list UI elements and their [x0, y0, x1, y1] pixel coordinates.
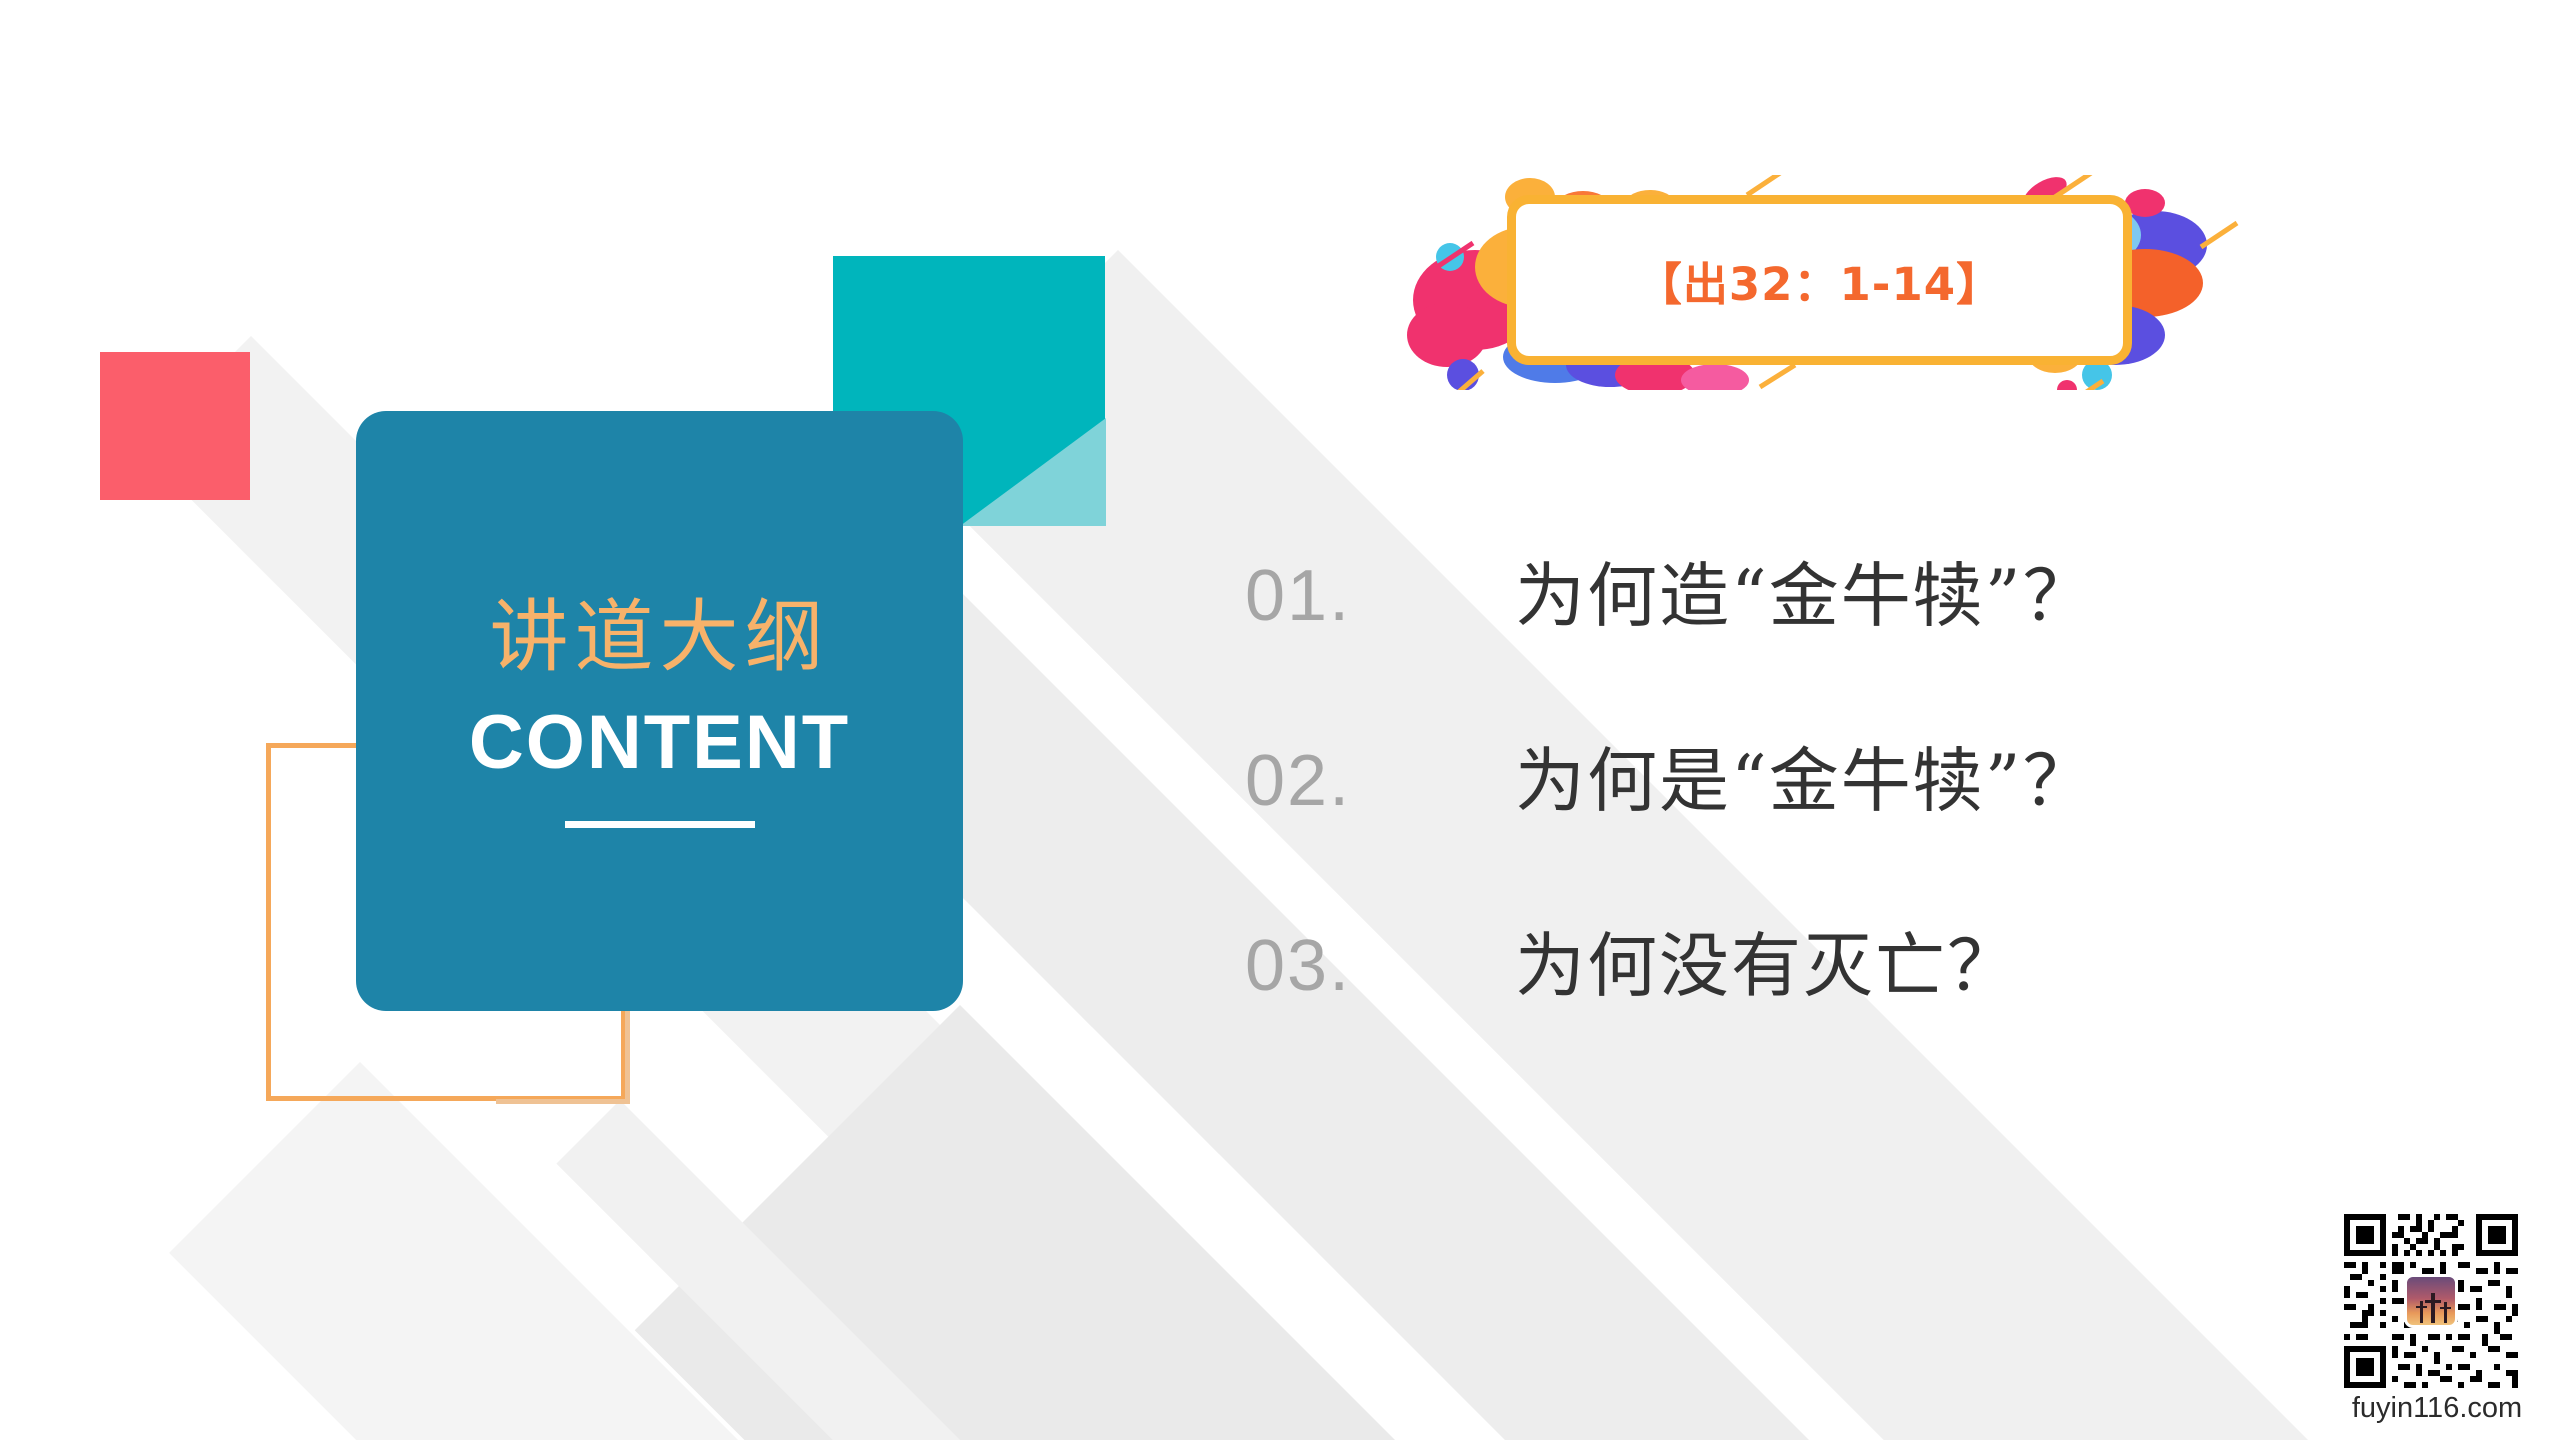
content-card: 讲道大纲 CONTENT — [356, 411, 963, 1011]
content-card-title-cn: 讲道大纲 — [490, 594, 830, 681]
agenda-label: 为何是“金牛犊”？ — [1515, 725, 2095, 826]
agenda-number: 01. — [1245, 555, 1515, 637]
scripture-reference-box: 【出32：1-14】 — [1507, 195, 2132, 365]
presentation-slide: 讲道大纲 CONTENT — [0, 0, 2560, 1440]
agenda-item-01[interactable]: 01. 为何造“金牛犊”？ — [1245, 540, 2395, 725]
decor-square-orange-outline-shadow — [496, 1000, 630, 1104]
agenda-item-03[interactable]: 03. 为何没有灭亡？ — [1245, 910, 2395, 1095]
cross-sunset-icon — [2404, 1274, 2458, 1328]
shadow-band-outline-square — [556, 1100, 1313, 1440]
shadow-band-card-upper — [169, 1062, 1385, 1440]
watermark-url: fuyin116.com — [2332, 1392, 2542, 1425]
agenda-label: 为何没有灭亡？ — [1515, 910, 2019, 1011]
agenda-label: 为何造“金牛犊”？ — [1515, 540, 2095, 641]
agenda-item-02[interactable]: 02. 为何是“金牛犊”？ — [1245, 725, 2395, 910]
scripture-reference-text: 【出32：1-14】 — [1637, 248, 2002, 313]
scripture-banner: 【出32：1-14】 — [1355, 175, 2255, 390]
agenda-number: 03. — [1245, 925, 1515, 1007]
content-card-underline — [565, 821, 755, 828]
agenda-number: 02. — [1245, 740, 1515, 822]
agenda-list: 01. 为何造“金牛犊”？ 02. 为何是“金牛犊”？ 03. 为何没有灭亡？ — [1245, 540, 2395, 1095]
decor-square-pink — [100, 352, 250, 500]
content-card-title-en: CONTENT — [469, 703, 850, 783]
qr-code[interactable] — [2338, 1208, 2524, 1394]
